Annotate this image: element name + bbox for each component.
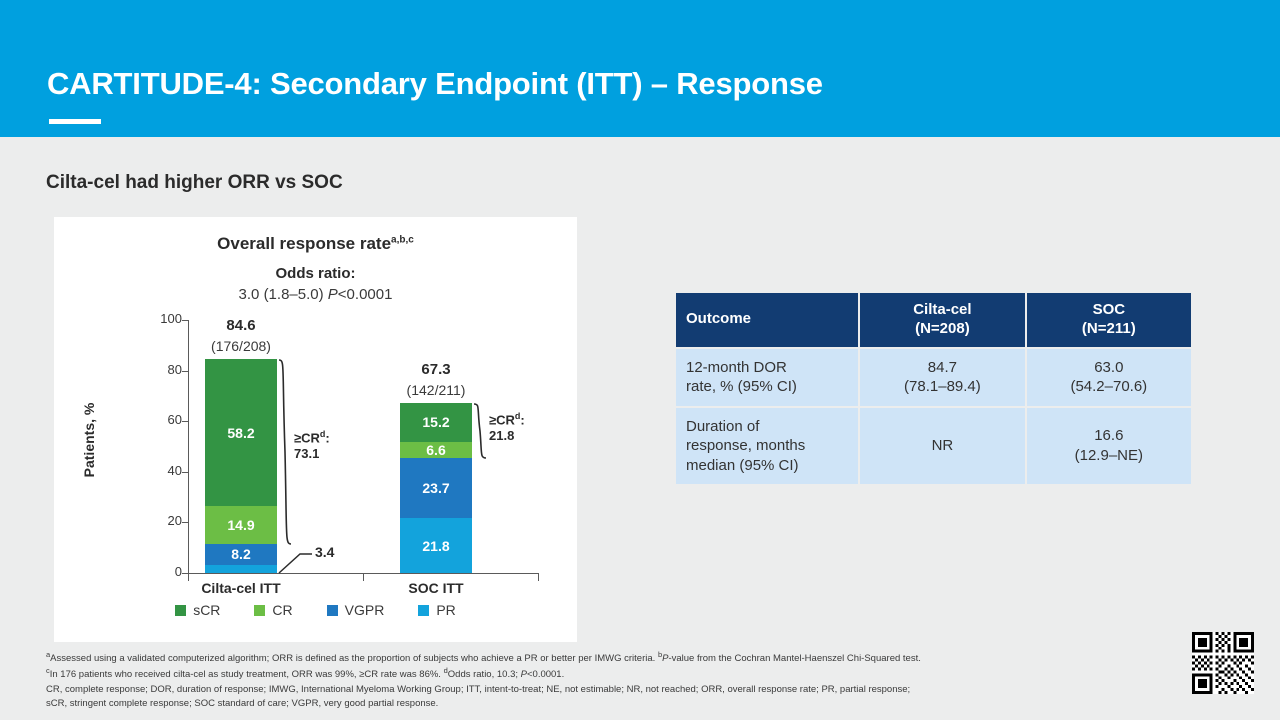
- table-cell-outcome-dor-line2: rate, % (95% CI): [686, 378, 797, 395]
- bar-segment-cr-soc: 6.6: [400, 442, 472, 459]
- table-header-outcome: Outcome: [676, 293, 858, 347]
- annotation-cr-cilta-colon: :: [325, 430, 329, 445]
- footnote-line-2: cIn 176 patients who received cilta-cel …: [46, 666, 1136, 682]
- legend-swatch-cr: [254, 605, 265, 616]
- annotation-cr-cilta: ≥CRd: 73.1: [294, 429, 330, 462]
- y-axis-line: [188, 320, 189, 573]
- footnote-text-a: Assessed using a validated computerized …: [50, 653, 658, 664]
- qr-code[interactable]: [1192, 632, 1254, 694]
- chart-plot-area: Patients, % 100 80 60 40 20 0: [54, 217, 577, 642]
- y-tick-mark-80: [182, 371, 188, 372]
- legend-swatch-scr: [175, 605, 186, 616]
- legend-swatch-pr: [418, 605, 429, 616]
- bar-segment-pr-cilta: [205, 565, 277, 574]
- legend-item-vgpr: VGPR: [327, 602, 385, 618]
- x-axis-category-soc: SOC ITT: [351, 580, 521, 596]
- y-tick-0: 0: [132, 573, 182, 574]
- pr-leader-line-cilta: [278, 547, 314, 575]
- annotation-cr-cilta-value: 73.1: [294, 446, 319, 461]
- table-cell-soc-dor-value: 63.0: [1094, 359, 1123, 376]
- table-cell-cilta-dor-ci: (78.1–89.4): [904, 378, 981, 395]
- y-tick-label-0: 0: [142, 564, 182, 579]
- y-tick-mark-20: [182, 522, 188, 523]
- y-tick-60: 60: [132, 421, 182, 422]
- table-cell-outcome-dor-line1: 12-month DOR: [686, 359, 787, 376]
- bar-cilta-cel-itt: 58.2 14.9 8.2: [205, 359, 277, 573]
- chart-card: Overall response ratea,b,c Odds ratio: 3…: [54, 217, 577, 642]
- table-header-cilta-cel: Cilta-cel (N=208): [860, 293, 1024, 347]
- legend-label-vgpr: VGPR: [345, 602, 385, 618]
- footnote-text-c: In 176 patients who received cilta-cel a…: [50, 669, 444, 680]
- footnotes: aAssessed using a validated computerized…: [46, 650, 1136, 710]
- outcomes-table: Outcome Cilta-cel (N=208) SOC (N=211) 12…: [674, 291, 1193, 486]
- legend-item-scr: sCR: [175, 602, 220, 618]
- abbreviations-line-1: CR, complete response; DOR, duration of …: [46, 683, 1136, 696]
- table-cell-cilta-dor: 84.7 (78.1–89.4): [860, 349, 1024, 406]
- table-header-soc: SOC (N=211): [1027, 293, 1191, 347]
- legend-label-cr: CR: [272, 602, 292, 618]
- title-underline-rule: [49, 119, 101, 124]
- footnote-line-1: aAssessed using a validated computerized…: [46, 650, 1136, 666]
- annotation-cr-soc-value: 21.8: [489, 428, 514, 443]
- y-tick-40: 40: [132, 472, 182, 473]
- bar-segment-label-cr-soc: 6.6: [426, 442, 445, 458]
- y-axis-title: Patients, %: [81, 370, 97, 510]
- bar-segment-cr-cilta: 14.9: [205, 506, 277, 544]
- y-tick-20: 20: [132, 522, 182, 523]
- table-header-soc-n: (N=211): [1082, 320, 1136, 337]
- bar-segment-scr-cilta: 58.2: [205, 359, 277, 506]
- bar-total-fraction-cilta: (176/208): [161, 338, 321, 354]
- annotation-cr-soc-label: ≥CR: [489, 412, 515, 427]
- table-cell-outcome-dor: 12-month DOR rate, % (95% CI): [676, 349, 858, 406]
- bar-segment-label-cr-cilta: 14.9: [227, 517, 254, 533]
- annotation-cr-soc-colon: :: [520, 412, 524, 427]
- table-header-soc-name: SOC: [1093, 301, 1126, 318]
- chart-legend: sCR CR VGPR PR: [54, 602, 577, 618]
- bar-total-fraction-soc: (142/211): [356, 382, 516, 398]
- legend-swatch-vgpr: [327, 605, 338, 616]
- annotation-cr-cilta-label: ≥CR: [294, 430, 320, 445]
- bar-segment-pr-soc: 21.8: [400, 518, 472, 573]
- x-axis-tick-end: [538, 573, 539, 581]
- y-tick-80: 80: [132, 371, 182, 372]
- table-row: 12-month DOR rate, % (95% CI) 84.7 (78.1…: [676, 349, 1191, 406]
- bar-segment-scr-soc: 15.2: [400, 403, 472, 442]
- table-cell-outcome-duration: Duration of response, months median (95%…: [676, 408, 858, 485]
- bar-segment-label-vgpr-soc: 23.7: [422, 480, 449, 496]
- legend-item-cr: CR: [254, 602, 292, 618]
- slide-subtitle: Cilta-cel had higher ORR vs SOC: [46, 172, 343, 194]
- table-cell-soc-duration: 16.6 (12.9–NE): [1027, 408, 1191, 485]
- table-cell-soc-duration-value: 16.6: [1094, 427, 1123, 444]
- table-header-cilta-name: Cilta-cel: [913, 301, 971, 318]
- y-tick-label-20: 20: [142, 513, 182, 528]
- bar-segment-vgpr-cilta: 8.2: [205, 544, 277, 565]
- y-tick-label-40: 40: [142, 463, 182, 478]
- y-tick-mark-60: [182, 421, 188, 422]
- table-cell-soc-dor: 63.0 (54.2–70.6): [1027, 349, 1191, 406]
- abbreviations-line-2: sCR, stringent complete response; SOC st…: [46, 697, 1136, 710]
- bar-total-value-cilta: 84.6: [161, 317, 321, 334]
- table-cell-outcome-duration-line2: response, months: [686, 437, 805, 454]
- bar-segment-label-vgpr-cilta: 8.2: [231, 546, 250, 562]
- annotation-cr-soc: ≥CRd: 21.8: [489, 411, 525, 444]
- y-tick-label-60: 60: [142, 412, 182, 427]
- table-row: Duration of response, months median (95%…: [676, 408, 1191, 485]
- y-tick-label-80: 80: [142, 362, 182, 377]
- footnote-text-b: -value from the Cochran Mantel-Haenszel …: [668, 653, 920, 664]
- bar-segment-vgpr-soc: 23.7: [400, 458, 472, 518]
- legend-item-pr: PR: [418, 602, 455, 618]
- legend-label-pr: PR: [436, 602, 455, 618]
- bar-segment-label-scr-soc: 15.2: [422, 414, 449, 430]
- brace-cr-soc: [473, 403, 487, 459]
- bar-segment-label-scr-cilta: 58.2: [227, 425, 254, 441]
- legend-label-scr: sCR: [193, 602, 220, 618]
- table-cell-outcome-duration-line3: median (95% CI): [686, 457, 799, 474]
- table-cell-soc-dor-ci: (54.2–70.6): [1070, 378, 1147, 395]
- table-cell-cilta-dor-value: 84.7: [928, 359, 957, 376]
- brace-cr-cilta: [278, 359, 292, 545]
- y-tick-mark-40: [182, 472, 188, 473]
- table-cell-outcome-duration-line1: Duration of: [686, 418, 759, 435]
- bar-soc-itt: 15.2 6.6 23.7 21.8: [400, 403, 472, 573]
- footnote-text-d: Odds ratio, 10.3;: [448, 669, 521, 680]
- bar-total-value-soc: 67.3: [356, 361, 516, 378]
- table-header-cilta-n: (N=208): [915, 320, 970, 337]
- table-cell-soc-duration-ci: (12.9–NE): [1075, 447, 1143, 464]
- footnote-text-d-tail: <0.0001.: [527, 669, 564, 680]
- table-header-row: Outcome Cilta-cel (N=208) SOC (N=211): [676, 293, 1191, 347]
- page-title: CARTITUDE-4: Secondary Endpoint (ITT) – …: [47, 66, 823, 102]
- table-cell-cilta-duration: NR: [860, 408, 1024, 485]
- x-axis-category-cilta: Cilta-cel ITT: [156, 580, 326, 596]
- annotation-pr-value-cilta: 3.4: [315, 544, 334, 560]
- bar-segment-label-pr-soc: 21.8: [422, 538, 449, 554]
